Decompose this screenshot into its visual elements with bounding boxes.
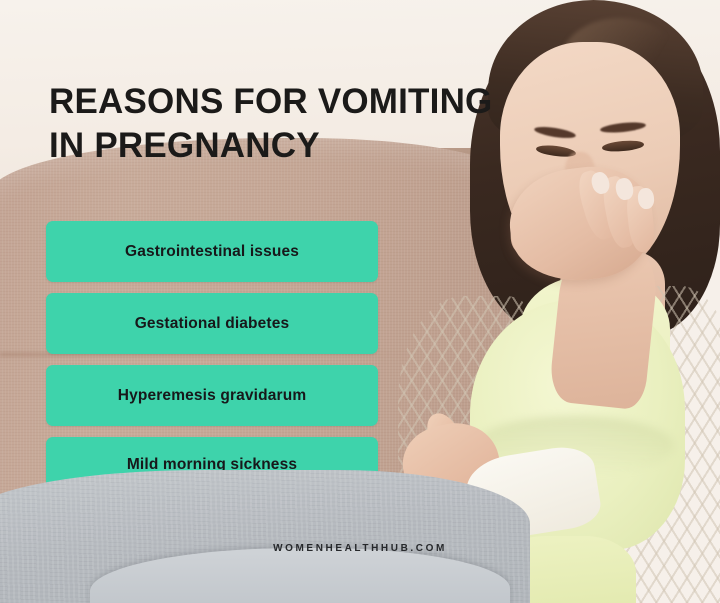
title-line-1: REASONS FOR VOMITING [49, 80, 569, 124]
reason-label: Hyperemesis gravidarum [118, 387, 307, 405]
page-title: REASONS FOR VOMITING IN PREGNANCY [49, 80, 569, 168]
reason-item[interactable]: Hyperemesis gravidarum [46, 365, 378, 426]
reason-label: Gestational diabetes [135, 315, 290, 333]
reason-item[interactable]: Gestational diabetes [46, 293, 378, 354]
infographic-canvas: REASONS FOR VOMITING IN PREGNANCY Gastro… [0, 0, 720, 603]
reason-item[interactable]: Gastrointestinal issues [46, 221, 378, 282]
watermark: WOMENHEALTHHUB.COM [0, 543, 720, 554]
reason-label: Gastrointestinal issues [125, 243, 299, 261]
reasons-list: Gastrointestinal issues Gestational diab… [46, 221, 378, 504]
title-line-2: IN PREGNANCY [49, 124, 569, 168]
